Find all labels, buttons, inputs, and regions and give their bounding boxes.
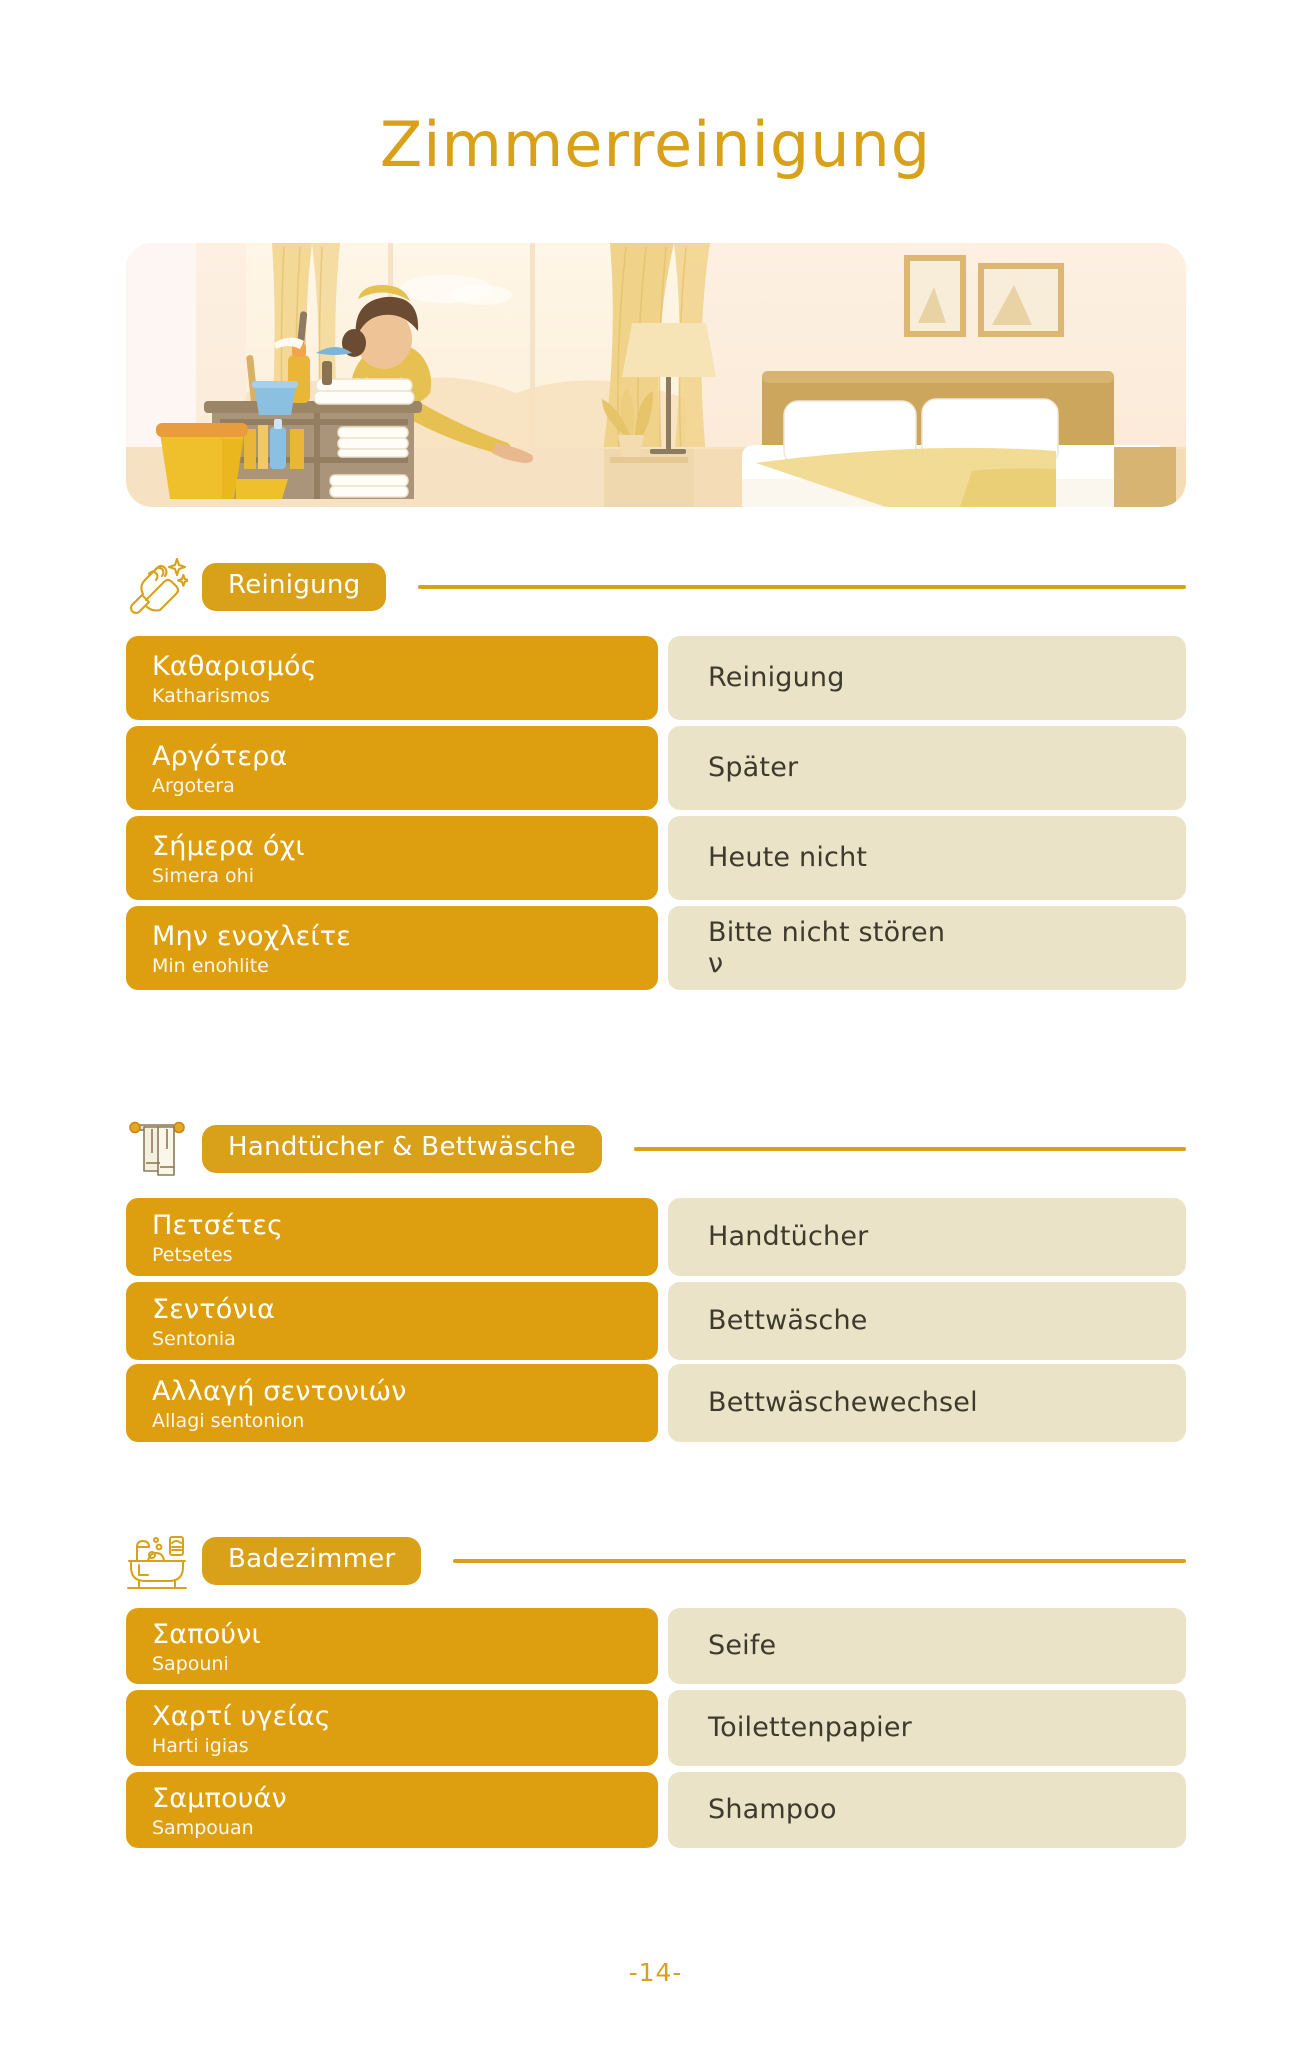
- greek-text: Πετσέτες: [152, 1211, 632, 1241]
- hero-illustration: [126, 243, 1186, 507]
- page-title: Zimmerreinigung: [0, 108, 1311, 181]
- german-text: Reinigung: [708, 662, 1146, 693]
- transliteration-text: Katharismos: [152, 685, 632, 708]
- transliteration-text: Sapouni: [152, 1653, 632, 1676]
- phrase-row: Χαρτί υγείαςHarti igiasToilettenpapier: [126, 1690, 1186, 1766]
- page-number: -14-: [0, 1958, 1311, 1987]
- transliteration-text: Argotera: [152, 775, 632, 798]
- phrase-row: Μην ενοχλείτεMin enohliteBitte nicht stö…: [126, 906, 1186, 990]
- phrase-row: ΣαμπουάνSampouanShampoo: [126, 1772, 1186, 1848]
- section-title-pill: Reinigung: [202, 563, 386, 610]
- page-root: Zimmerreinigung: [0, 0, 1311, 2048]
- german-translation-card[interactable]: Seife: [668, 1608, 1186, 1684]
- german-text: Bettwäschewechsel: [708, 1387, 1146, 1418]
- german-translation-card[interactable]: Reinigung: [668, 636, 1186, 720]
- german-text: Bettwäsche: [708, 1305, 1146, 1336]
- german-translation-card[interactable]: Toilettenpapier: [668, 1690, 1186, 1766]
- transliteration-text: Harti igias: [152, 1735, 632, 1758]
- greek-phrase-card[interactable]: ΣεντόνιαSentonia: [126, 1282, 658, 1360]
- towel-rack-icon: [126, 1119, 188, 1179]
- german-translation-card[interactable]: Bitte nicht störenν: [668, 906, 1186, 990]
- section-header-1: Handtücher & Bettwäsche: [126, 1118, 1186, 1180]
- german-text: Shampoo: [708, 1794, 1146, 1825]
- section-rule: [634, 1147, 1186, 1151]
- section-title-pill: Handtücher & Bettwäsche: [202, 1125, 602, 1172]
- phrase-row: ΑργότεραArgoteraSpäter: [126, 726, 1186, 810]
- german-text: Toilettenpapier: [708, 1712, 1146, 1743]
- german-translation-card[interactable]: Bettwäsche: [668, 1282, 1186, 1360]
- greek-text: Χαρτί υγείας: [152, 1702, 632, 1732]
- greek-phrase-card[interactable]: Μην ενοχλείτεMin enohlite: [126, 906, 658, 990]
- phrase-row: ΚαθαρισμόςKatharismosReinigung: [126, 636, 1186, 720]
- german-overflow-text: ν: [708, 948, 1146, 979]
- greek-text: Σεντόνια: [152, 1295, 632, 1325]
- transliteration-text: Allagi sentonion: [152, 1410, 632, 1433]
- phrase-row: Αλλαγή σεντονιώνAllagi sentonionBettwäsc…: [126, 1364, 1186, 1442]
- section-title-pill: Badezimmer: [202, 1537, 421, 1584]
- german-text: Später: [708, 752, 1146, 783]
- german-translation-card[interactable]: Bettwäschewechsel: [668, 1364, 1186, 1442]
- phrase-row: ΣεντόνιαSentoniaBettwäsche: [126, 1282, 1186, 1360]
- german-translation-card[interactable]: Shampoo: [668, 1772, 1186, 1848]
- bathtub-icon: [126, 1531, 188, 1591]
- greek-phrase-card[interactable]: ΑργότεραArgotera: [126, 726, 658, 810]
- transliteration-text: Simera ohi: [152, 865, 632, 888]
- phrase-row: ΣαπούνιSapouniSeife: [126, 1608, 1186, 1684]
- greek-phrase-card[interactable]: ΣαμπουάνSampouan: [126, 1772, 658, 1848]
- phrase-row: Σήμερα όχιSimera ohiHeute nicht: [126, 816, 1186, 900]
- greek-phrase-card[interactable]: ΣαπούνιSapouni: [126, 1608, 658, 1684]
- transliteration-text: Sentonia: [152, 1328, 632, 1351]
- phrase-row: ΠετσέτεςPetsetesHandtücher: [126, 1198, 1186, 1276]
- greek-text: Σαμπουάν: [152, 1784, 632, 1814]
- section-rule: [418, 585, 1186, 589]
- greek-phrase-card[interactable]: Σήμερα όχιSimera ohi: [126, 816, 658, 900]
- german-text: Bitte nicht stören: [708, 917, 1146, 948]
- greek-text: Καθαρισμός: [152, 652, 632, 682]
- german-translation-card[interactable]: Handtücher: [668, 1198, 1186, 1276]
- transliteration-text: Sampouan: [152, 1817, 632, 1840]
- section-header-0: Reinigung: [126, 556, 1186, 618]
- section-header-2: Badezimmer: [126, 1530, 1186, 1592]
- german-translation-card[interactable]: Heute nicht: [668, 816, 1186, 900]
- transliteration-text: Min enohlite: [152, 955, 632, 978]
- greek-text: Σήμερα όχι: [152, 832, 632, 862]
- greek-phrase-card[interactable]: ΚαθαρισμόςKatharismos: [126, 636, 658, 720]
- greek-text: Αργότερα: [152, 742, 632, 772]
- cleaning-hand-sponge-icon: [126, 557, 188, 617]
- greek-phrase-card[interactable]: Χαρτί υγείαςHarti igias: [126, 1690, 658, 1766]
- german-text: Seife: [708, 1630, 1146, 1661]
- section-rule: [453, 1559, 1186, 1563]
- german-text: Heute nicht: [708, 842, 1146, 873]
- greek-phrase-card[interactable]: Αλλαγή σεντονιώνAllagi sentonion: [126, 1364, 658, 1442]
- german-text: Handtücher: [708, 1221, 1146, 1252]
- greek-text: Αλλαγή σεντονιών: [152, 1377, 632, 1407]
- greek-text: Σαπούνι: [152, 1620, 632, 1650]
- greek-phrase-card[interactable]: ΠετσέτεςPetsetes: [126, 1198, 658, 1276]
- german-translation-card[interactable]: Später: [668, 726, 1186, 810]
- greek-text: Μην ενοχλείτε: [152, 922, 632, 952]
- transliteration-text: Petsetes: [152, 1244, 632, 1267]
